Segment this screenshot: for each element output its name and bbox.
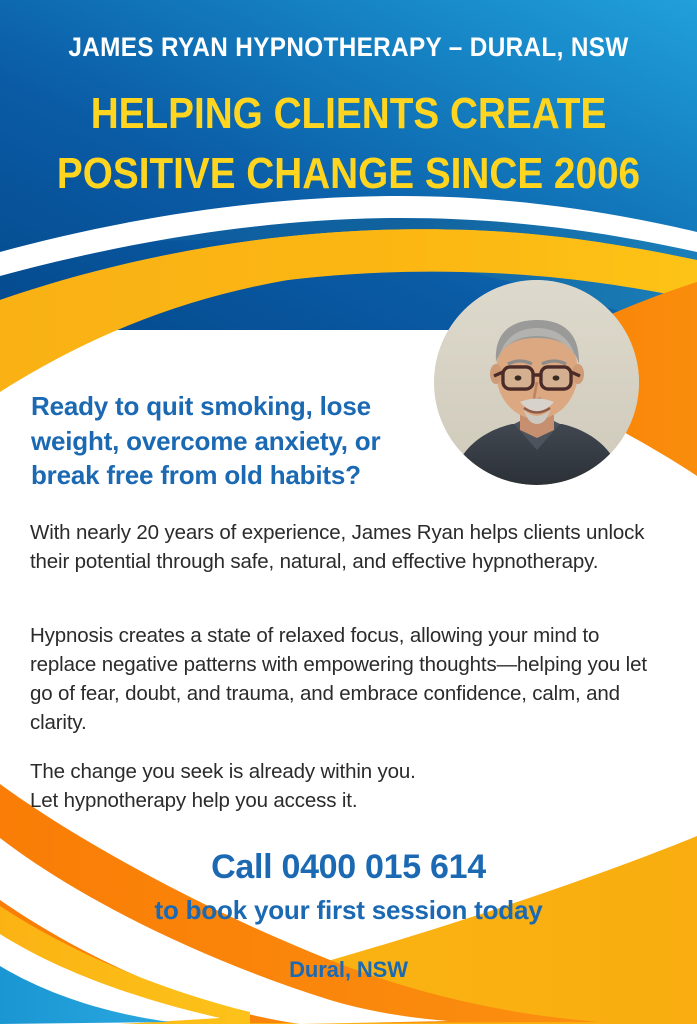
sub-headline: Ready to quit smoking, lose weight, over… — [31, 389, 431, 493]
paragraph-change: The change you seek is already within yo… — [30, 757, 670, 815]
paragraph-hypnosis: Hypnosis creates a state of relaxed focu… — [30, 621, 670, 737]
paragraph-experience: With nearly 20 years of experience, Jame… — [30, 518, 670, 576]
location-label: Dural, NSW — [0, 957, 697, 983]
booking-prompt: to book your first session today — [0, 895, 697, 926]
call-to-action[interactable]: Call 0400 015 614 to book your first ses… — [0, 848, 697, 926]
phone-number[interactable]: Call 0400 015 614 — [0, 848, 697, 887]
main-content: Ready to quit smoking, lose weight, over… — [0, 0, 697, 1024]
poster-canvas: JAMES RYAN HYPNOTHERAPY – DURAL, NSW HEL… — [0, 0, 697, 1024]
